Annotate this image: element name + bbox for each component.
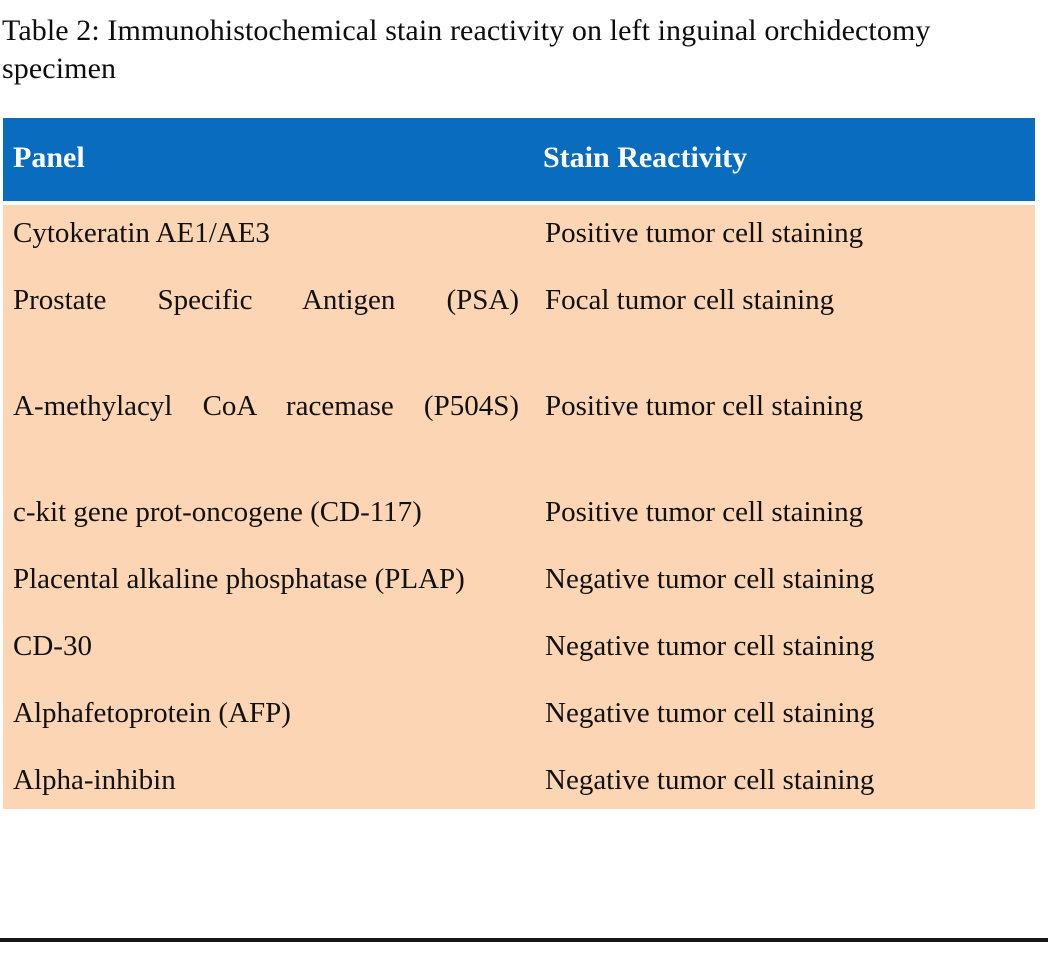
row-spacer	[3, 368, 1035, 378]
row-spacer	[3, 474, 1035, 484]
panel-text: A-methylacyl CoA racemase (P504S)	[13, 387, 519, 465]
row-spacer-cell-left	[3, 474, 533, 484]
row-spacer	[3, 541, 1035, 551]
row-spacer-cell-right	[533, 474, 1035, 484]
cell-panel: c-kit gene prot-oncogene (CD-117)	[3, 484, 533, 541]
table-bottom-border	[0, 938, 1048, 942]
table-row: Alphafetoprotein (AFP) Negative tumor ce…	[3, 685, 1035, 742]
row-spacer-cell-left	[3, 675, 533, 685]
table-row: Prostate Specific Antigen (PSA) Focal tu…	[3, 272, 1035, 368]
cell-panel: Alphafetoprotein (AFP)	[3, 685, 533, 742]
row-spacer	[3, 742, 1035, 752]
cell-panel: Placental alkaline phosphatase (PLAP)	[3, 551, 533, 608]
table-row: Alpha-inhibin Negative tumor cell staini…	[3, 752, 1035, 809]
cell-stain-reactivity: Positive tumor cell staining	[533, 378, 1035, 474]
table-header: Panel Stain Reactivity	[3, 118, 1035, 205]
panel-text: Prostate Specific Antigen (PSA)	[13, 281, 519, 359]
column-header-stain-reactivity: Stain Reactivity	[533, 118, 1035, 201]
row-spacer-cell-right	[533, 742, 1035, 752]
row-spacer-cell-left	[3, 742, 533, 752]
cell-panel: Prostate Specific Antigen (PSA)	[3, 272, 533, 368]
row-spacer	[3, 608, 1035, 618]
table-row: Cytokeratin AE1/AE3 Positive tumor cell …	[3, 205, 1035, 262]
row-spacer-cell-right	[533, 262, 1035, 272]
row-spacer-cell-left	[3, 541, 533, 551]
cell-panel: Cytokeratin AE1/AE3	[3, 205, 533, 262]
cell-panel: CD-30	[3, 618, 533, 675]
table-row: Placental alkaline phosphatase (PLAP) Ne…	[3, 551, 1035, 608]
cell-stain-reactivity: Focal tumor cell staining	[533, 272, 1035, 368]
panel-text: Cytokeratin AE1/AE3	[13, 214, 519, 253]
cell-stain-reactivity: Negative tumor cell staining	[533, 618, 1035, 675]
cell-stain-reactivity: Positive tumor cell staining	[533, 205, 1035, 262]
panel-text: c-kit gene prot-oncogene (CD-117)	[13, 493, 519, 532]
row-spacer-cell-right	[533, 368, 1035, 378]
row-spacer-cell-right	[533, 608, 1035, 618]
row-spacer	[3, 262, 1035, 272]
table-row: A-methylacyl CoA racemase (P504S) Positi…	[3, 378, 1035, 474]
cell-stain-reactivity: Negative tumor cell staining	[533, 752, 1035, 809]
ihc-stain-table: Panel Stain Reactivity Cytokeratin AE1/A…	[3, 118, 1035, 809]
cell-stain-reactivity: Negative tumor cell staining	[533, 685, 1035, 742]
document-page: Table 2: Immunohistochemical stain react…	[0, 0, 1055, 960]
cell-stain-reactivity: Negative tumor cell staining	[533, 551, 1035, 608]
panel-text: Alphafetoprotein (AFP)	[13, 694, 519, 733]
row-spacer-cell-right	[533, 541, 1035, 551]
row-spacer-cell-left	[3, 262, 533, 272]
row-spacer-cell-left	[3, 368, 533, 378]
row-spacer	[3, 675, 1035, 685]
panel-text: Placental alkaline phosphatase (PLAP)	[13, 560, 519, 599]
cell-panel: A-methylacyl CoA racemase (P504S)	[3, 378, 533, 474]
panel-text: Alpha-inhibin	[13, 761, 519, 800]
header-row: Panel Stain Reactivity	[3, 118, 1035, 201]
cell-panel: Alpha-inhibin	[3, 752, 533, 809]
cell-stain-reactivity: Positive tumor cell staining	[533, 484, 1035, 541]
table-row: c-kit gene prot-oncogene (CD-117) Positi…	[3, 484, 1035, 541]
table-container: Panel Stain Reactivity Cytokeratin AE1/A…	[3, 118, 1035, 809]
row-spacer-cell-left	[3, 608, 533, 618]
table-caption: Table 2: Immunohistochemical stain react…	[2, 12, 1050, 88]
table-row: CD-30 Negative tumor cell staining	[3, 618, 1035, 675]
column-header-panel: Panel	[3, 118, 533, 201]
row-spacer-cell-right	[533, 675, 1035, 685]
panel-text: CD-30	[13, 627, 519, 666]
table-body: Cytokeratin AE1/AE3 Positive tumor cell …	[3, 205, 1035, 809]
